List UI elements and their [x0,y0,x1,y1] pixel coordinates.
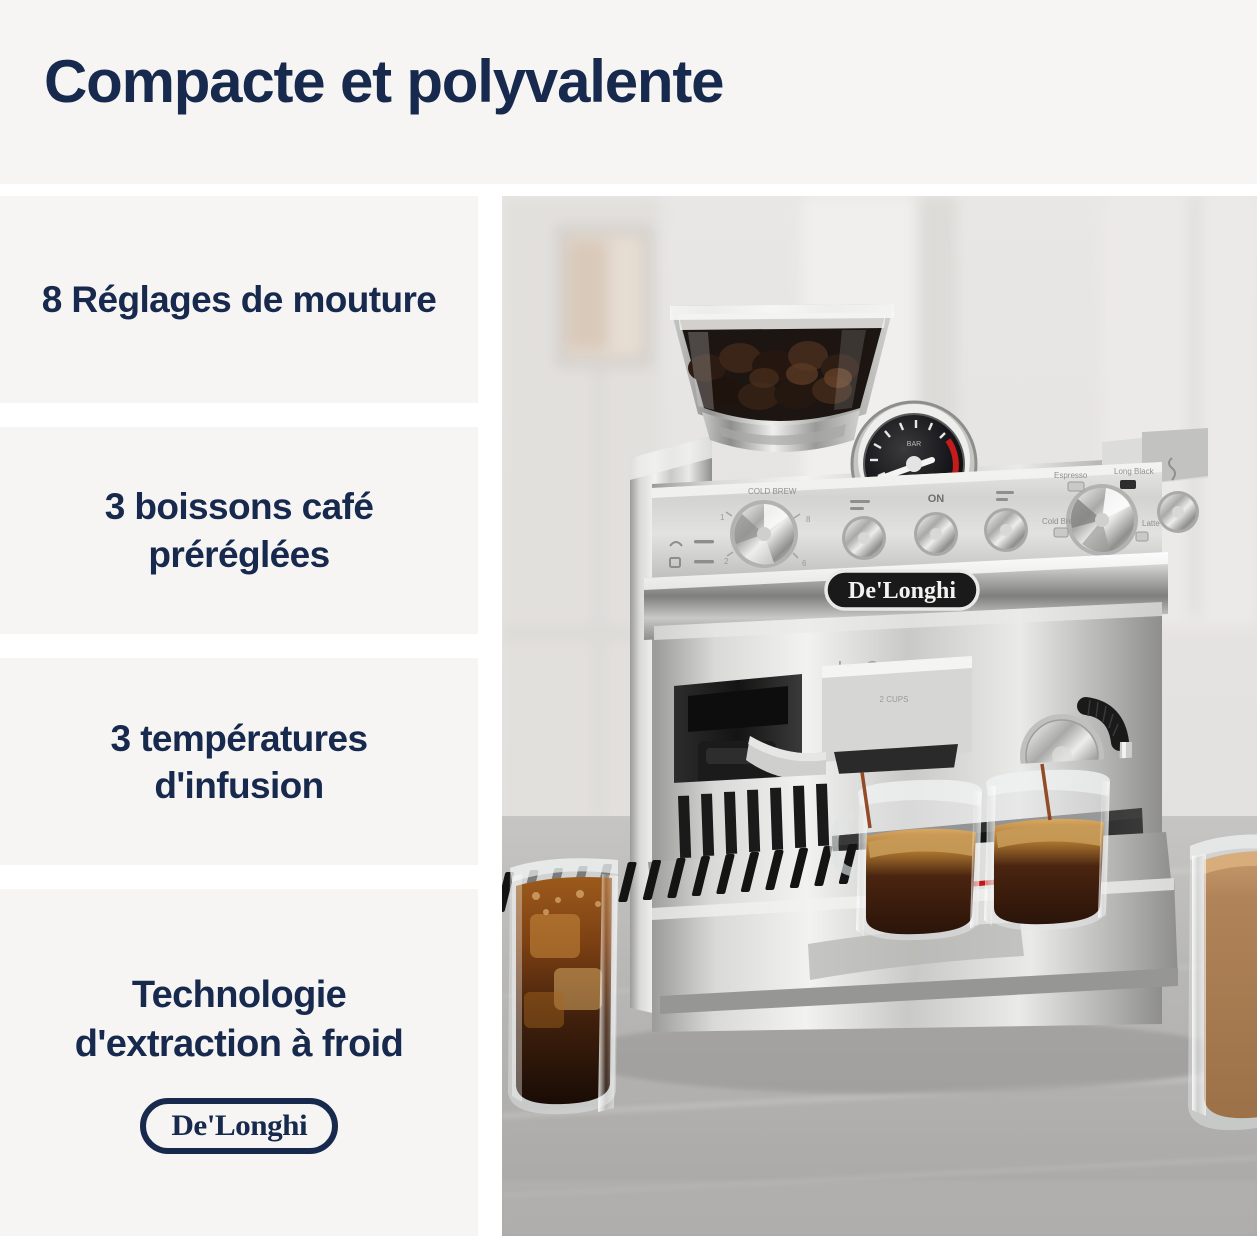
svg-text:Latte: Latte [1142,519,1160,528]
svg-text:Long Black: Long Black [1114,467,1155,476]
delonghi-brand-logo: De'Longhi [140,1098,338,1154]
product-feature-panel: Compacte et polyvalente 8 Réglages de mo… [0,0,1257,1257]
svg-text:2: 2 [724,557,729,566]
header-band: Compacte et polyvalente [0,0,1257,184]
svg-text:ON: ON [928,493,945,505]
svg-text:BAR: BAR [907,441,921,448]
delonghi-logo-text: De'Longhi [171,1111,307,1141]
svg-text:Cold Brew: Cold Brew [1042,517,1079,526]
feature-card-grind-settings: 8 Réglages de mouture [0,196,478,403]
espresso-machine-photo: BAR [502,196,1257,1236]
machine-brand-text: De'Longhi [848,578,956,604]
product-photo: BAR [502,196,1257,1236]
feature-label: Technologie d'extraction à froid [34,971,444,1068]
cold-brew-glass [508,858,618,1114]
latte-glass [1188,834,1257,1130]
svg-text:COLD BREW: COLD BREW [748,487,797,496]
svg-text:8: 8 [806,515,811,524]
page-title: Compacte et polyvalente [0,50,723,113]
feature-label: 3 boissons café préréglées [34,483,444,578]
feature-card-cold-extraction: Technologie d'extraction à froid De'Long… [0,889,478,1236]
feature-list: 8 Réglages de mouture 3 boissons café pr… [0,196,478,1236]
feature-card-brew-temperatures: 3 températures d'infusion [0,658,478,865]
svg-text:Espresso: Espresso [1054,471,1088,480]
feature-card-preset-drinks: 3 boissons café préréglées [0,427,478,634]
feature-label: 8 Réglages de mouture [42,276,437,323]
svg-text:1: 1 [720,513,725,522]
svg-text:2 CUPS: 2 CUPS [880,695,909,704]
svg-text:6: 6 [802,559,807,568]
feature-label: 3 températures d'infusion [34,715,444,810]
